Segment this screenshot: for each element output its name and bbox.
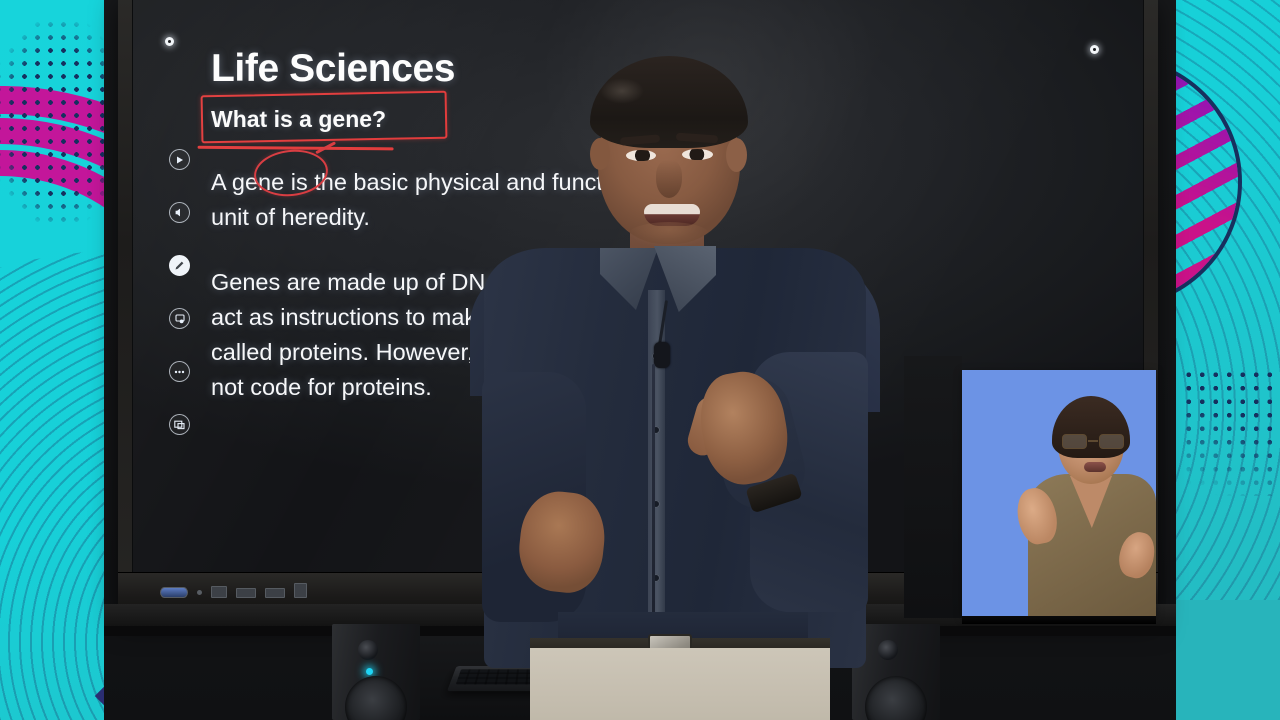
whiteboard-port-panel[interactable] xyxy=(160,583,307,598)
presenter-ear-right xyxy=(726,138,747,172)
speaker-tweeter xyxy=(358,640,378,660)
presenter-eye-left xyxy=(626,150,656,161)
presenter-eye-right xyxy=(682,149,713,160)
hdmi-port[interactable] xyxy=(236,588,256,598)
video-frame: Life Sciences What is a gene? A gene is … xyxy=(0,0,1280,720)
usb-port-1[interactable] xyxy=(211,586,227,598)
presenter-trousers xyxy=(530,648,830,720)
pip-backdrop-wall xyxy=(904,356,962,618)
pip-base-shadow xyxy=(962,616,1156,624)
presenter-ear-left xyxy=(590,138,610,170)
usb-port-2[interactable] xyxy=(265,588,285,598)
eyeglass-bridge xyxy=(1088,440,1098,442)
port-indicator-dot xyxy=(197,590,202,595)
sd-card-slot[interactable] xyxy=(294,583,307,598)
presenter-hair xyxy=(590,56,748,148)
eyeglass-lens-right xyxy=(1099,434,1124,449)
speaker-power-led xyxy=(366,668,373,675)
vga-port[interactable] xyxy=(160,587,188,598)
dot-grid-decor-top-left xyxy=(0,18,114,226)
dot-grid-decor-right xyxy=(1182,368,1280,496)
sign-language-interpreter-panel[interactable] xyxy=(962,370,1156,616)
presenter xyxy=(430,52,900,720)
lapel-microphone xyxy=(654,342,670,368)
studio-speaker-left xyxy=(332,624,420,720)
speaker-woofer xyxy=(345,676,407,720)
interpreter-mouth xyxy=(1084,462,1106,472)
presenter-nose xyxy=(656,160,682,198)
presenter-chin xyxy=(628,222,710,248)
eyeglasses-icon xyxy=(1062,434,1124,449)
eyeglass-lens-left xyxy=(1062,434,1087,449)
